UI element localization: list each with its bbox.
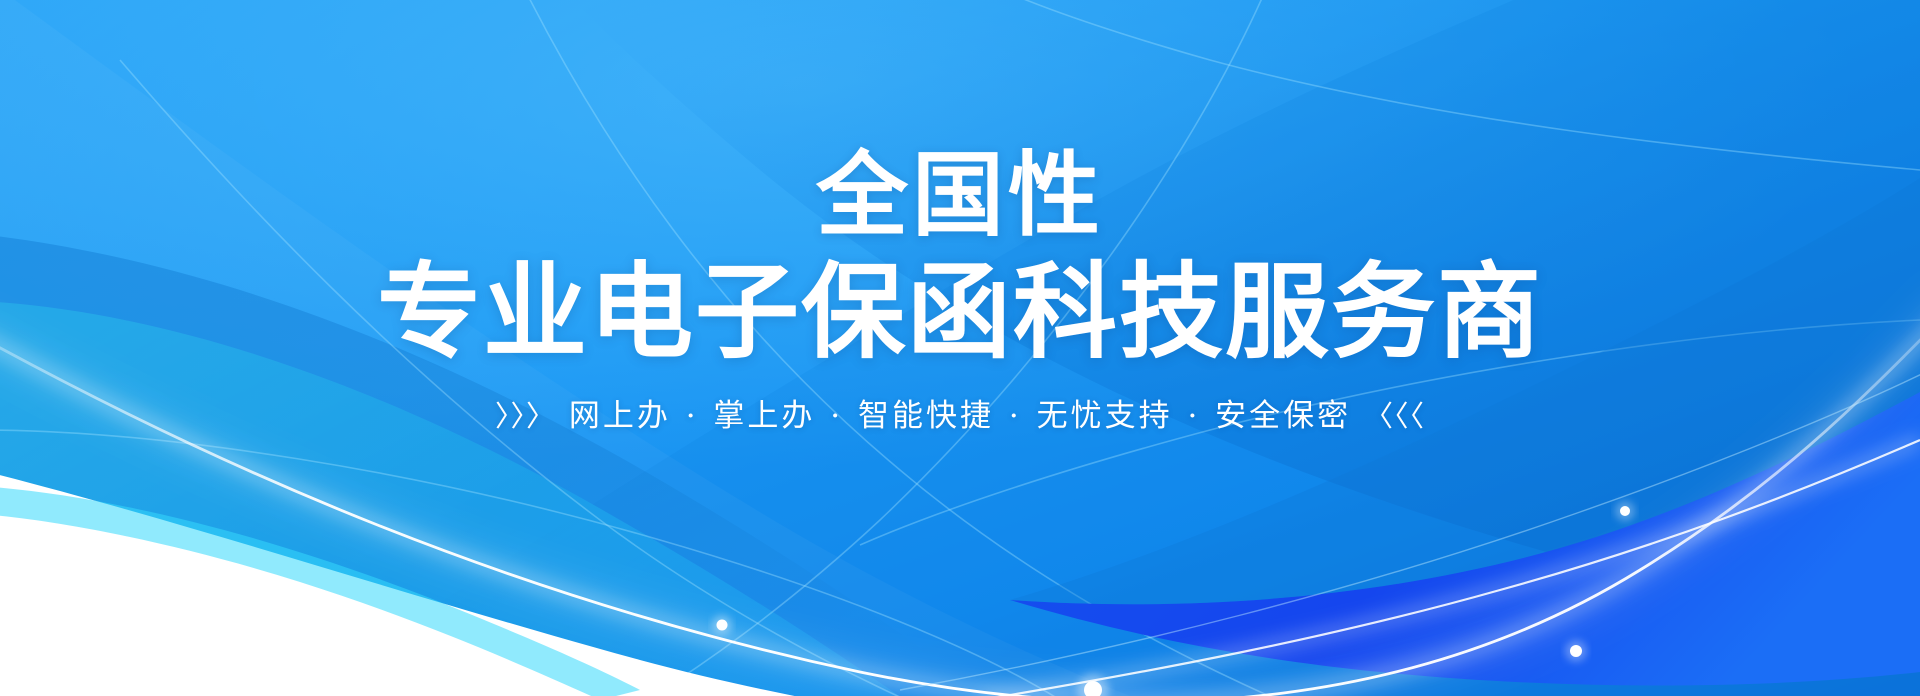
glow-dot-lower-halo <box>1565 640 1587 662</box>
glow-dot-right-halo <box>1615 501 1635 521</box>
glow-dot-left-halo <box>712 615 732 635</box>
hero-banner: 全国性 专业电子保函科技服务商 〉〉〉 网上办 · 掌上办 · 智能快捷 · 无… <box>0 0 1920 696</box>
banner-background-art <box>0 0 1920 696</box>
